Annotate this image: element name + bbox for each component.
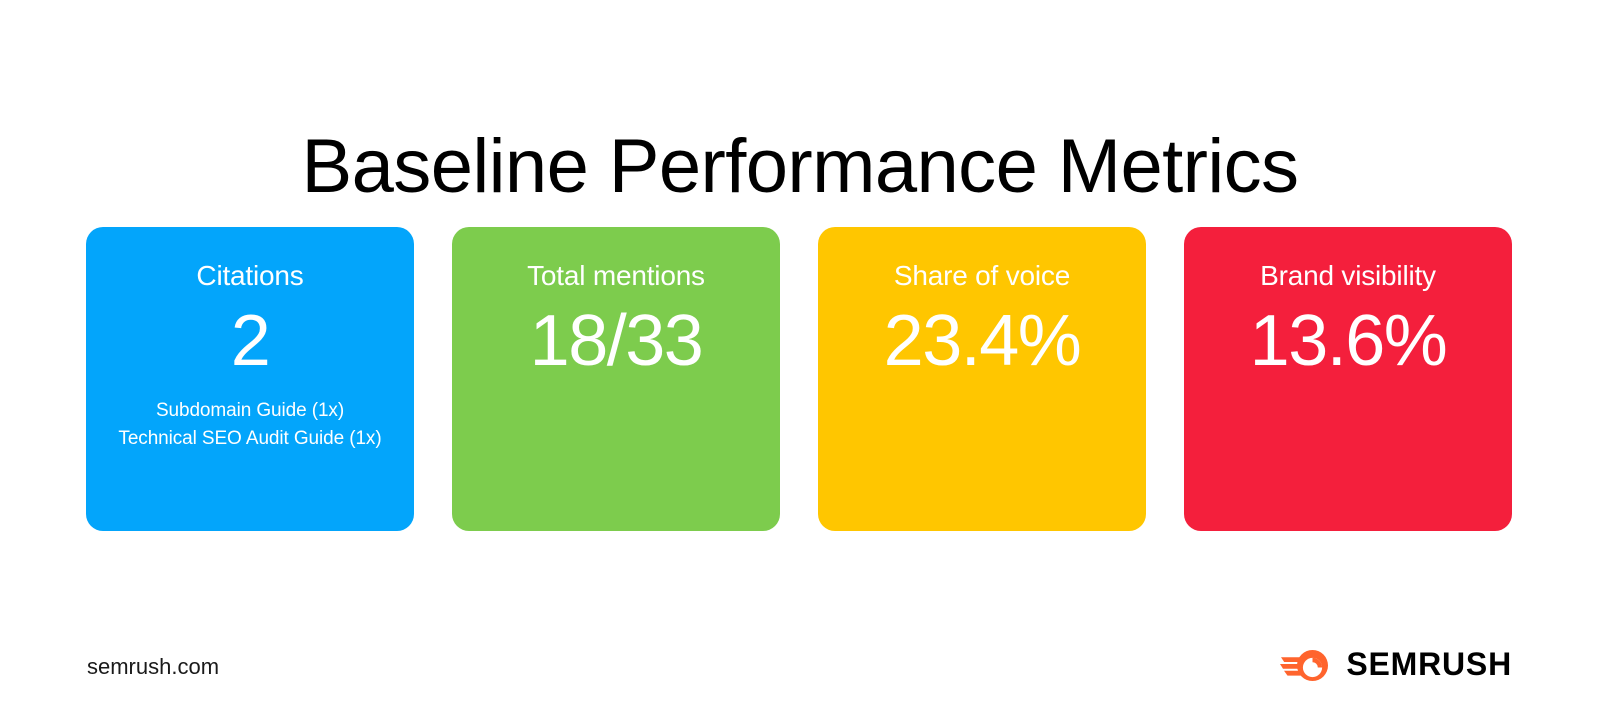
metric-card-share-of-voice[interactable]: Share of voice 23.4% <box>818 227 1146 531</box>
metric-card-label: Citations <box>184 259 315 293</box>
footer-source-url: semrush.com <box>87 654 219 680</box>
footer: semrush.com SEMRUSH <box>0 608 1600 718</box>
page-title: Baseline Performance Metrics <box>0 125 1600 209</box>
metric-card-brand-visibility[interactable]: Brand visibility 13.6% <box>1184 227 1512 531</box>
semrush-logo: SEMRUSH <box>1280 644 1512 684</box>
metric-card-label: Share of voice <box>882 259 1082 293</box>
semrush-comet-icon <box>1280 644 1332 684</box>
metric-card-value: 18/33 <box>530 297 703 385</box>
metric-card-total-mentions[interactable]: Total mentions 18/33 <box>452 227 780 531</box>
infographic-canvas: Baseline Performance Metrics Citations 2… <box>0 0 1600 718</box>
metric-card-label: Total mentions <box>515 259 717 293</box>
metric-card-row: Citations 2 Subdomain Guide (1x)Technica… <box>86 227 1512 531</box>
metric-card-details: Subdomain Guide (1x)Technical SEO Audit … <box>100 397 399 453</box>
metric-card-label: Brand visibility <box>1248 259 1448 293</box>
metric-card-value: 13.6% <box>1250 297 1447 385</box>
metric-card-value: 23.4% <box>884 297 1081 385</box>
semrush-wordmark: SEMRUSH <box>1346 647 1512 681</box>
metric-card-value: 2 <box>231 297 270 385</box>
metric-card-citations[interactable]: Citations 2 Subdomain Guide (1x)Technica… <box>86 227 414 531</box>
